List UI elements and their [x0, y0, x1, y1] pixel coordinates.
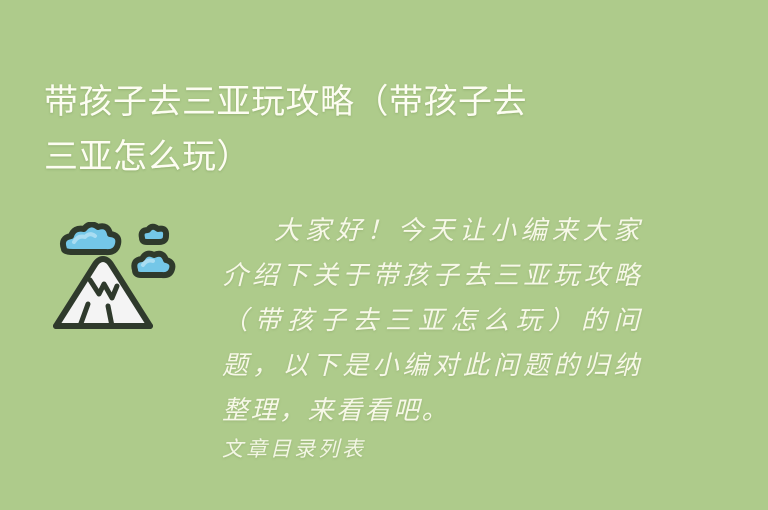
mountain-icon	[50, 222, 190, 342]
mountain-with-clouds-illustration	[50, 222, 190, 342]
cloud-large-icon	[63, 224, 118, 252]
cloud-medium-icon	[134, 254, 172, 275]
toc-heading: 文章目录列表	[222, 433, 642, 465]
cloud-small-icon	[142, 227, 167, 242]
article-body: 大家好！今天让小编来大家介绍下关于带孩子去三亚玩攻略（带孩子去三亚怎么玩）的问题…	[222, 208, 642, 465]
page-title: 带孩子去三亚玩攻略（带孩子去 三亚怎么玩）	[44, 75, 684, 185]
intro-paragraph: 大家好！今天让小编来大家介绍下关于带孩子去三亚玩攻略（带孩子去三亚怎么玩）的问题…	[222, 208, 642, 433]
article-preview-card: 带孩子去三亚玩攻略（带孩子去 三亚怎么玩）	[0, 0, 768, 510]
